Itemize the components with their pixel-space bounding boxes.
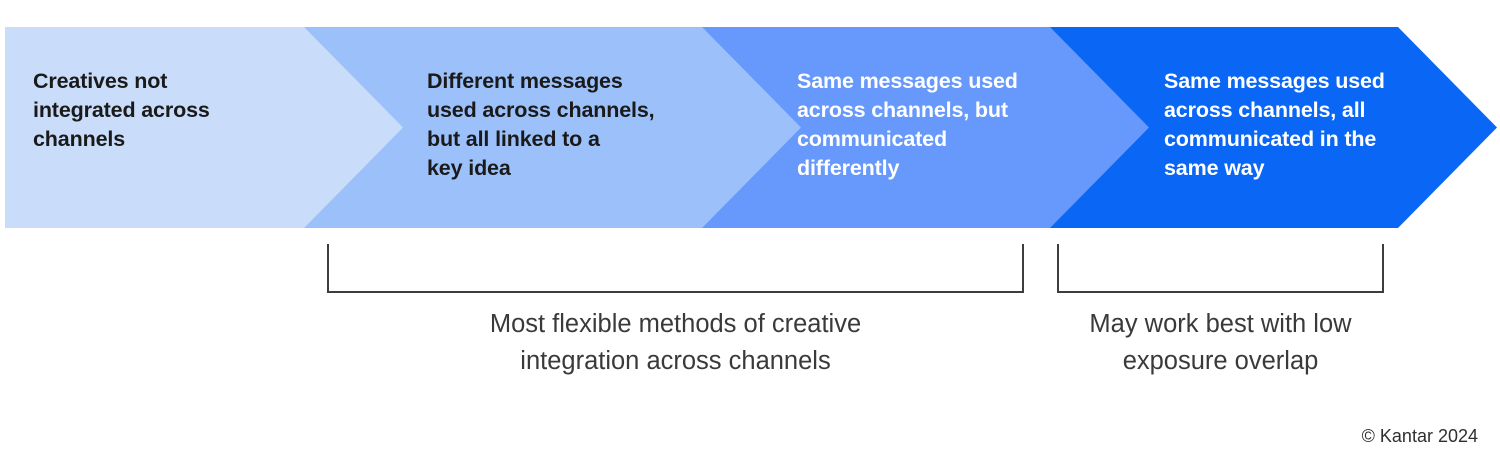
chevron-band: Creatives not integrated across channels… [0, 0, 1500, 240]
chevron-shapes [0, 0, 1500, 240]
diagram-canvas: Creatives not integrated across channels… [0, 0, 1500, 461]
caption-overlap: May work best with low exposure overlap [1057, 306, 1384, 380]
bracket-overlap [1057, 244, 1384, 293]
caption-flexible: Most flexible methods of creative integr… [327, 306, 1024, 380]
copyright-notice: © Kantar 2024 [1362, 426, 1478, 447]
bracket-flexible [327, 244, 1024, 293]
